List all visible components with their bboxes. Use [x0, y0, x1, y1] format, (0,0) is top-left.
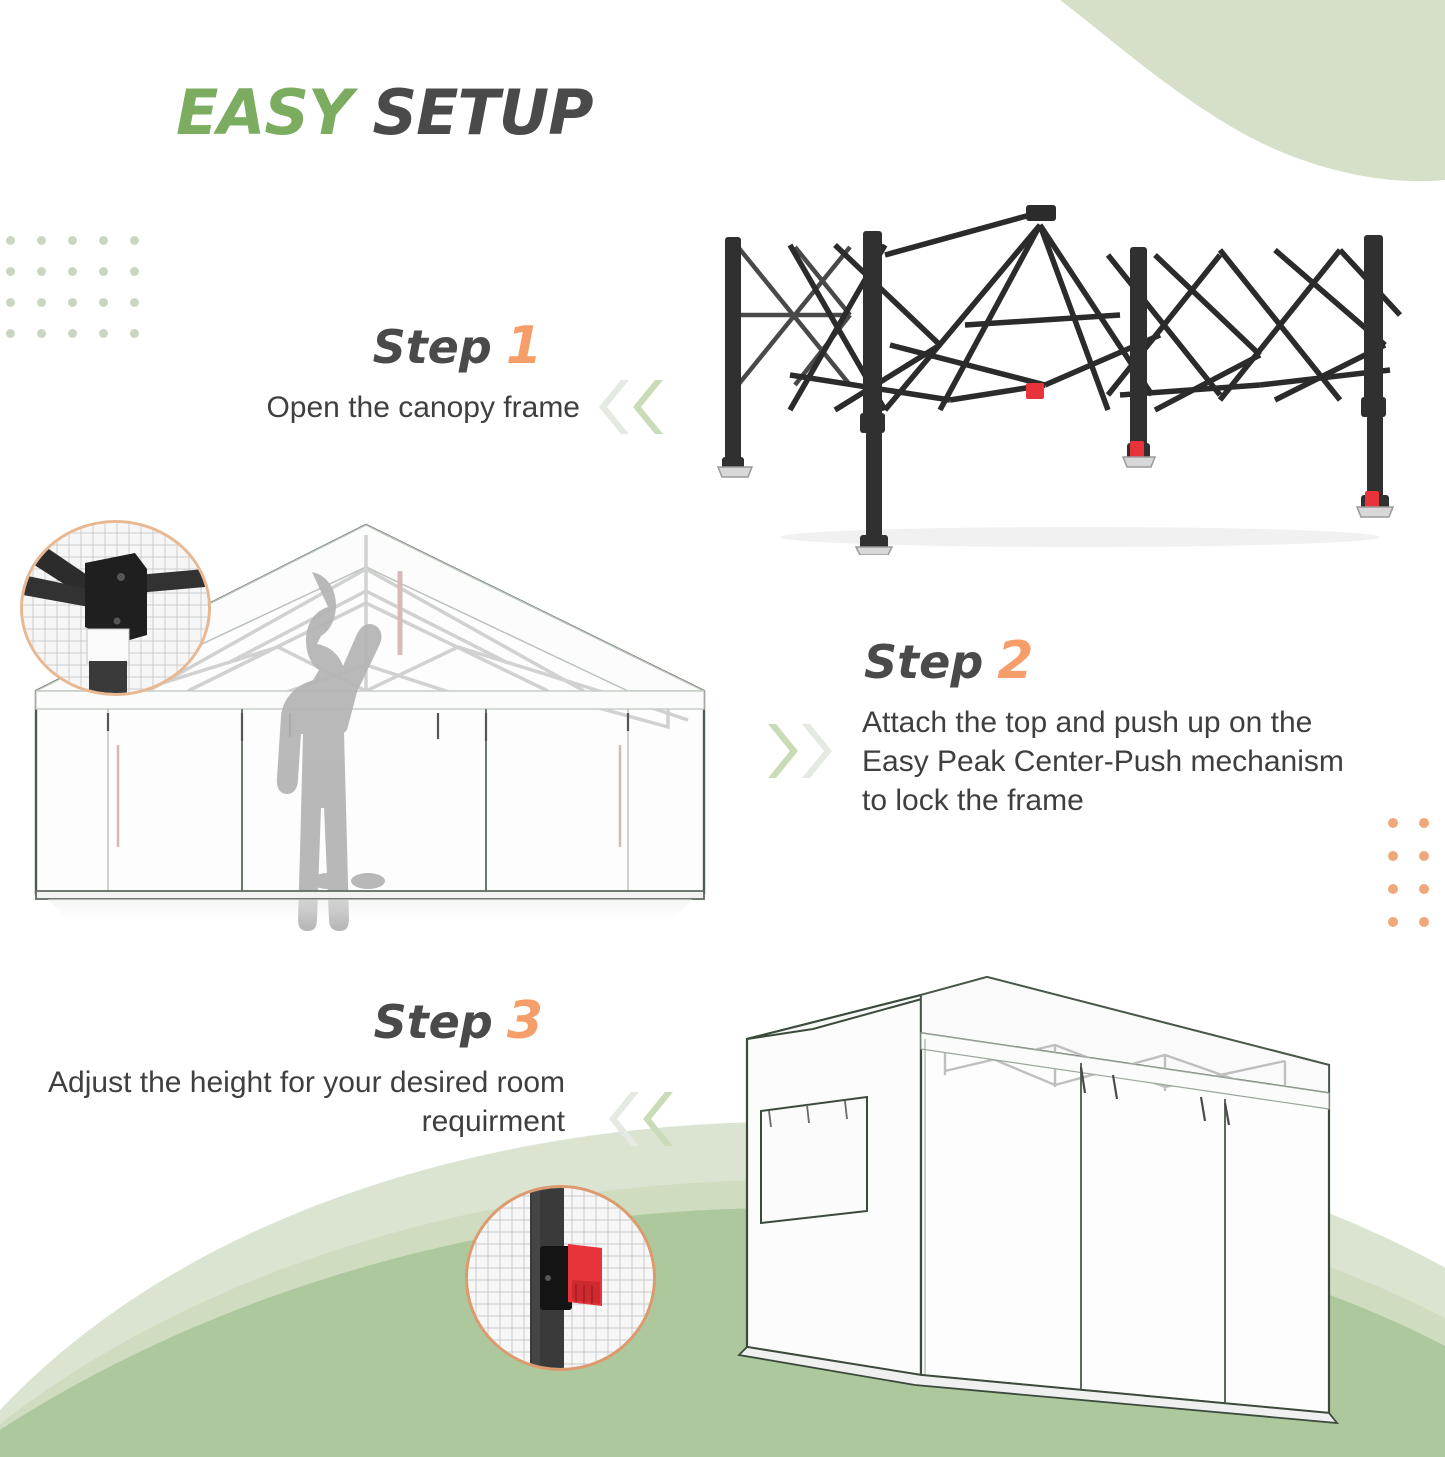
step-1-heading: Step1: [180, 320, 580, 372]
dot: [37, 329, 46, 338]
step-2-number: 2: [997, 631, 1033, 691]
chevron-right-icon: [802, 722, 836, 780]
side-window-panel: [761, 1097, 867, 1223]
dot: [6, 236, 15, 245]
step-2-heading: Step2: [862, 635, 1352, 687]
dot: [68, 267, 77, 276]
dot: [37, 267, 46, 276]
step-3-heading: Step3: [20, 995, 565, 1047]
dot: [37, 298, 46, 307]
chevron-left-icon: [639, 1090, 673, 1148]
dot: [68, 298, 77, 307]
dot: [1419, 917, 1429, 927]
step-2-body: Attach the top and push up on the Easy P…: [862, 703, 1352, 820]
title-word-setup: SETUP: [372, 76, 592, 149]
dot: [99, 236, 108, 245]
dot: [6, 298, 15, 307]
step-1-label: Step: [373, 320, 492, 374]
height-adjust-lever-detail-inset: [465, 1185, 656, 1371]
dot: [1388, 884, 1398, 894]
dot: [99, 267, 108, 276]
step-3-block: Step3 Adjust the height for your desired…: [20, 995, 565, 1141]
red-release-catch: [1026, 383, 1379, 510]
dot: [1388, 917, 1398, 927]
dot-grid-right: [1388, 818, 1445, 950]
step-1-body: Open the canopy frame: [180, 388, 580, 427]
dot: [99, 329, 108, 338]
step-3-chevrons: [605, 1090, 673, 1148]
dot: [130, 236, 139, 245]
lock-housing: [540, 1246, 572, 1310]
page-title: EASY SETUP: [176, 76, 593, 149]
step-2-block: Step2 Attach the top and push up on the …: [862, 635, 1352, 820]
dot: [6, 329, 15, 338]
title-word-easy: EASY: [176, 76, 352, 149]
dot: [99, 298, 108, 307]
dot: [1388, 851, 1398, 861]
step-1-block: Step1 Open the canopy frame: [180, 320, 580, 427]
dot: [37, 236, 46, 245]
chevron-left-icon: [595, 378, 629, 436]
blob-top-right: [1060, 0, 1445, 181]
dot: [130, 329, 139, 338]
dot: [130, 298, 139, 307]
dot: [68, 329, 77, 338]
step-3-label: Step: [374, 995, 493, 1049]
dot: [1419, 851, 1429, 861]
dot: [68, 236, 77, 245]
chevron-left-icon: [629, 378, 663, 436]
dot: [1419, 884, 1429, 894]
chevron-right-icon: [768, 722, 802, 780]
chevron-left-icon: [605, 1090, 639, 1148]
step-3-number: 3: [507, 991, 543, 1051]
dot-grid-left: [6, 236, 161, 360]
step-2-label: Step: [864, 635, 983, 689]
greenhouse-assembled-illustration: [725, 975, 1355, 1435]
corner-bracket-detail-inset: [20, 520, 211, 696]
infographic-canvas: EASY SETUP: [0, 0, 1445, 1457]
dot: [1419, 818, 1429, 828]
dot: [1388, 818, 1398, 828]
dot: [130, 267, 139, 276]
step-1-chevrons: [595, 378, 663, 436]
step-3-body: Adjust the height for your desired room …: [20, 1063, 565, 1141]
step-1-number: 1: [506, 316, 542, 376]
dot: [6, 267, 15, 276]
canopy-frame-illustration: [700, 195, 1420, 555]
step-2-chevrons: [768, 722, 836, 780]
